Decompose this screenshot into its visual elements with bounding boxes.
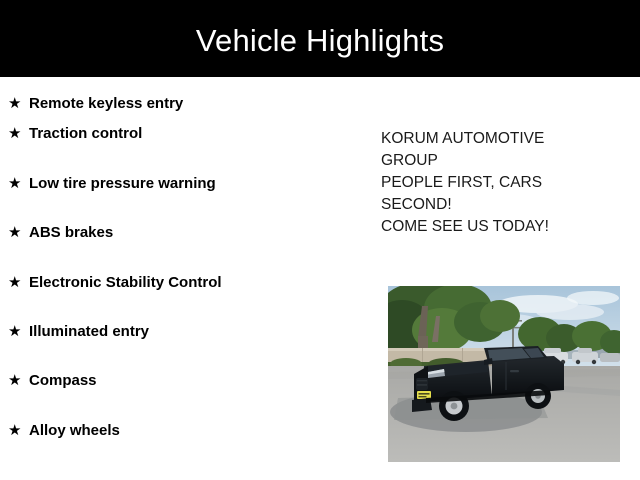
list-item: ★ Electronic Stability Control — [0, 275, 360, 324]
list-item: ★ Alloy wheels — [0, 423, 360, 472]
page-title: Vehicle Highlights — [0, 0, 640, 77]
feature-label: Remote keyless entry — [29, 96, 183, 111]
vehicle-photo-image — [388, 286, 620, 462]
list-item: ★ Compass — [0, 373, 360, 422]
feature-label: Alloy wheels — [29, 423, 120, 438]
feature-label: Illuminated entry — [29, 324, 149, 339]
star-icon: ★ — [8, 275, 29, 290]
star-icon: ★ — [8, 96, 29, 111]
list-item: ★ Traction control — [0, 126, 360, 175]
star-icon: ★ — [8, 126, 29, 141]
star-icon: ★ — [8, 423, 29, 438]
star-icon: ★ — [8, 176, 29, 191]
feature-label: Low tire pressure warning — [29, 176, 216, 191]
list-item: ★ Remote keyless entry — [0, 77, 360, 126]
list-item: ★ Illuminated entry — [0, 324, 360, 373]
star-icon: ★ — [8, 373, 29, 388]
feature-label: Compass — [29, 373, 97, 388]
feature-label: Electronic Stability Control — [29, 275, 222, 290]
feature-label: Traction control — [29, 126, 142, 141]
vehicle-photo — [388, 286, 620, 462]
vehicle-features-list: ★ Remote keyless entry ★ Traction contro… — [0, 77, 360, 472]
header-banner: Vehicle Highlights — [0, 0, 640, 77]
star-icon: ★ — [8, 324, 29, 339]
dealer-promo-text: KORUM AUTOMOTIVE GROUP PEOPLE FIRST, CAR… — [381, 128, 593, 238]
star-icon: ★ — [8, 225, 29, 240]
feature-label: ABS brakes — [29, 225, 113, 240]
list-item: ★ ABS brakes — [0, 225, 360, 274]
list-item: ★ Low tire pressure warning — [0, 176, 360, 225]
